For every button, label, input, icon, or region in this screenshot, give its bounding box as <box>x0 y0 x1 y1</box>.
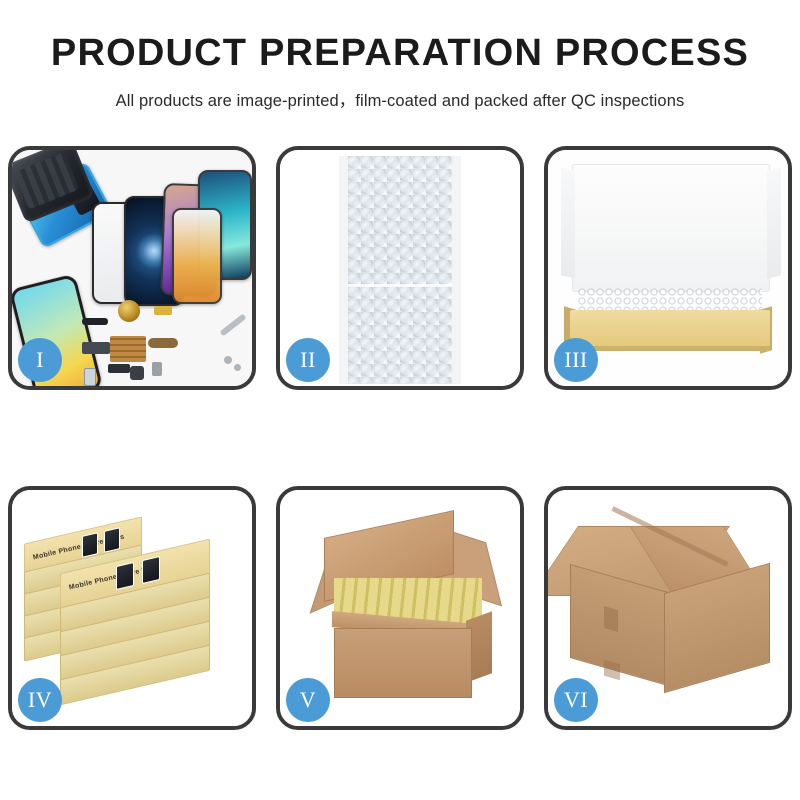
part-ribbon-icon <box>148 338 178 348</box>
step-badge-2: II <box>286 338 330 382</box>
bubble-wrap-illustration <box>339 156 461 384</box>
inner-box-bottom-edge <box>570 346 770 351</box>
box-screen-thumb-4 <box>142 556 160 584</box>
part-screw-2-icon <box>234 364 241 371</box>
part-cable-icon <box>82 342 110 354</box>
step-panel-2: II <box>276 146 524 390</box>
part-flex-gold-icon <box>154 306 172 315</box>
sealed-carton-tab-top <box>604 606 618 632</box>
part-battery-icon <box>152 362 162 376</box>
part-camera-icon <box>130 366 144 380</box>
page-subtitle: All products are image-printed，film-coat… <box>0 87 800 111</box>
step-panel-1: I <box>8 146 256 390</box>
step-badge-3: III <box>554 338 598 382</box>
part-tweezers-icon <box>219 313 246 336</box>
step-panel-3: III <box>544 146 792 390</box>
inner-box-lid-icon <box>572 164 770 292</box>
step-badge-6: VI <box>554 678 598 722</box>
box-stack-illustration: Mobile Phone Spare Parts Mobile Phone Sp… <box>20 508 246 708</box>
inner-box-front-face <box>570 310 770 350</box>
step-panel-4: Mobile Phone Spare Parts Mobile Phone Sp… <box>8 486 256 730</box>
part-sim-tray-icon <box>84 368 96 386</box>
part-screw-icon <box>224 356 232 364</box>
phone-orange-display-icon <box>172 208 222 304</box>
step-badge-5: V <box>286 678 330 722</box>
sealed-carton-tab-bottom <box>604 660 620 681</box>
box-screen-thumb-3 <box>116 562 134 590</box>
page-title: PRODUCT PREPARATION PROCESS <box>0 34 800 72</box>
part-speaker-icon <box>118 300 140 322</box>
step-panel-5: V <box>276 486 524 730</box>
process-step-grid: I II III <box>8 146 792 730</box>
part-chip-icon <box>108 364 130 373</box>
product-preparation-page: PRODUCT PREPARATION PROCESS All products… <box>0 0 800 800</box>
step-badge-1: I <box>18 338 62 382</box>
part-logic-board-icon <box>110 336 146 362</box>
carton-front-face <box>334 628 472 698</box>
step-panel-6: VI <box>544 486 792 730</box>
step-badge-4: IV <box>18 678 62 722</box>
bubble-pattern-offset-icon <box>348 156 452 384</box>
page-header: PRODUCT PREPARATION PROCESS All products… <box>0 0 800 111</box>
part-connector-icon <box>82 318 108 325</box>
bubble-wrap-seam <box>348 284 452 287</box>
